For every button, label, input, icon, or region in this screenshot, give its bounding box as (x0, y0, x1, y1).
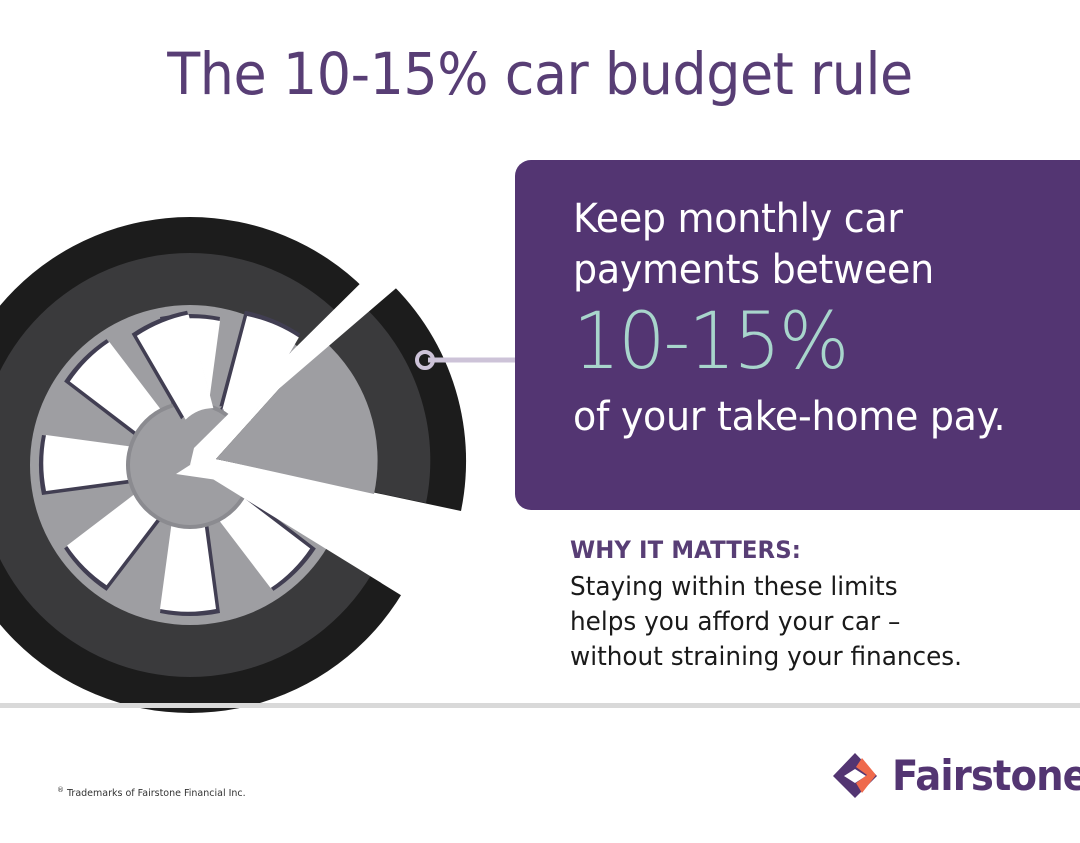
callout-card: Keep monthly car payments between 10-15%… (515, 160, 1080, 510)
why-body-line-2: helps you afford your car – (570, 605, 1036, 640)
callout-highlight-percentage: 10-15% (573, 300, 1055, 384)
why-it-matters-body: Staying within these limits helps you af… (570, 570, 1036, 675)
why-body-line-3: without straining your finances. (570, 640, 1036, 675)
callout-line-3: of your take-home pay. (573, 392, 1055, 443)
footer-divider (0, 703, 1080, 708)
fairstone-mark-icon (830, 750, 882, 800)
fairstone-logo: Fairstone® (830, 748, 1080, 802)
callout-line-2: payments between (573, 245, 1055, 296)
page-title: The 10-15% car budget rule (38, 40, 1042, 108)
trademark-text: Trademarks of Fairstone Financial Inc. (64, 788, 246, 799)
trademark-notice: ® Trademarks of Fairstone Financial Inc. (57, 786, 246, 799)
why-it-matters-section: WHY IT MATTERS: Staying within these lim… (570, 536, 1060, 675)
infographic-canvas: The 10-15% car budget rule (0, 0, 1080, 843)
why-it-matters-heading: WHY IT MATTERS: (570, 536, 1036, 564)
trademark-symbol: ® (57, 786, 64, 794)
why-body-line-1: Staying within these limits (570, 570, 1036, 605)
callout-line-1: Keep monthly car (573, 194, 1055, 245)
fairstone-wordmark: Fairstone® (892, 751, 1080, 800)
car-wheel-illustration (0, 212, 468, 722)
